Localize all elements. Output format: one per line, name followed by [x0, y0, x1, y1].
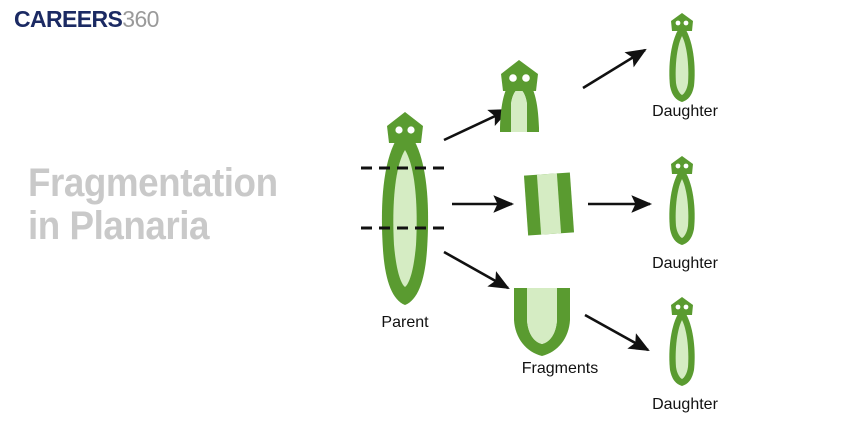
arrow-parent-to-tail-fragment — [444, 252, 508, 288]
label-fragments: Fragments — [495, 360, 625, 378]
arrow-tail-fragment-to-daughter-3 — [585, 315, 648, 350]
daughter-2-right-eye-icon — [684, 164, 689, 169]
head-fragment-right-eye-icon — [522, 74, 530, 82]
daughter-1-left-eye-icon — [676, 21, 681, 26]
fragmentation-diagram — [0, 0, 860, 430]
label-daughter-3: Daughter — [620, 396, 750, 414]
daughter-planaria-1 — [669, 13, 694, 102]
daughter-planaria-2 — [669, 156, 694, 245]
label-parent: Parent — [345, 314, 465, 332]
middle-fragment — [524, 172, 574, 235]
illustration-canvas: CAREERS360 Fragmentation in Planaria — [0, 0, 860, 430]
daughter-3-left-eye-icon — [676, 305, 681, 310]
arrow-group-fragments-to-daughters — [583, 50, 650, 350]
label-daughter-2: Daughter — [620, 255, 750, 273]
arrow-parent-to-head-fragment — [444, 110, 508, 140]
head-fragment-left-eye-icon — [509, 74, 517, 82]
parent-planaria — [382, 112, 428, 305]
tail-fragment-inner — [527, 288, 557, 344]
daughter-2-left-eye-icon — [676, 164, 681, 169]
label-daughter-1: Daughter — [620, 103, 750, 121]
head-fragment-head — [501, 60, 538, 91]
daughter-1-right-eye-icon — [684, 21, 689, 26]
daughter-3-head — [671, 297, 693, 315]
daughter-1-head — [671, 13, 693, 31]
middle-fragment-inner — [537, 173, 561, 234]
parent-right-eye-icon — [407, 126, 414, 133]
head-fragment — [500, 60, 539, 132]
daughter-2-head — [671, 156, 693, 174]
arrow-group-parent-to-fragments — [444, 110, 512, 288]
parent-head — [387, 112, 423, 143]
parent-left-eye-icon — [395, 126, 402, 133]
daughter-3-right-eye-icon — [684, 305, 689, 310]
daughter-planaria-3 — [669, 297, 694, 386]
arrow-head-fragment-to-daughter-1 — [583, 50, 645, 88]
tail-fragment — [514, 288, 570, 356]
